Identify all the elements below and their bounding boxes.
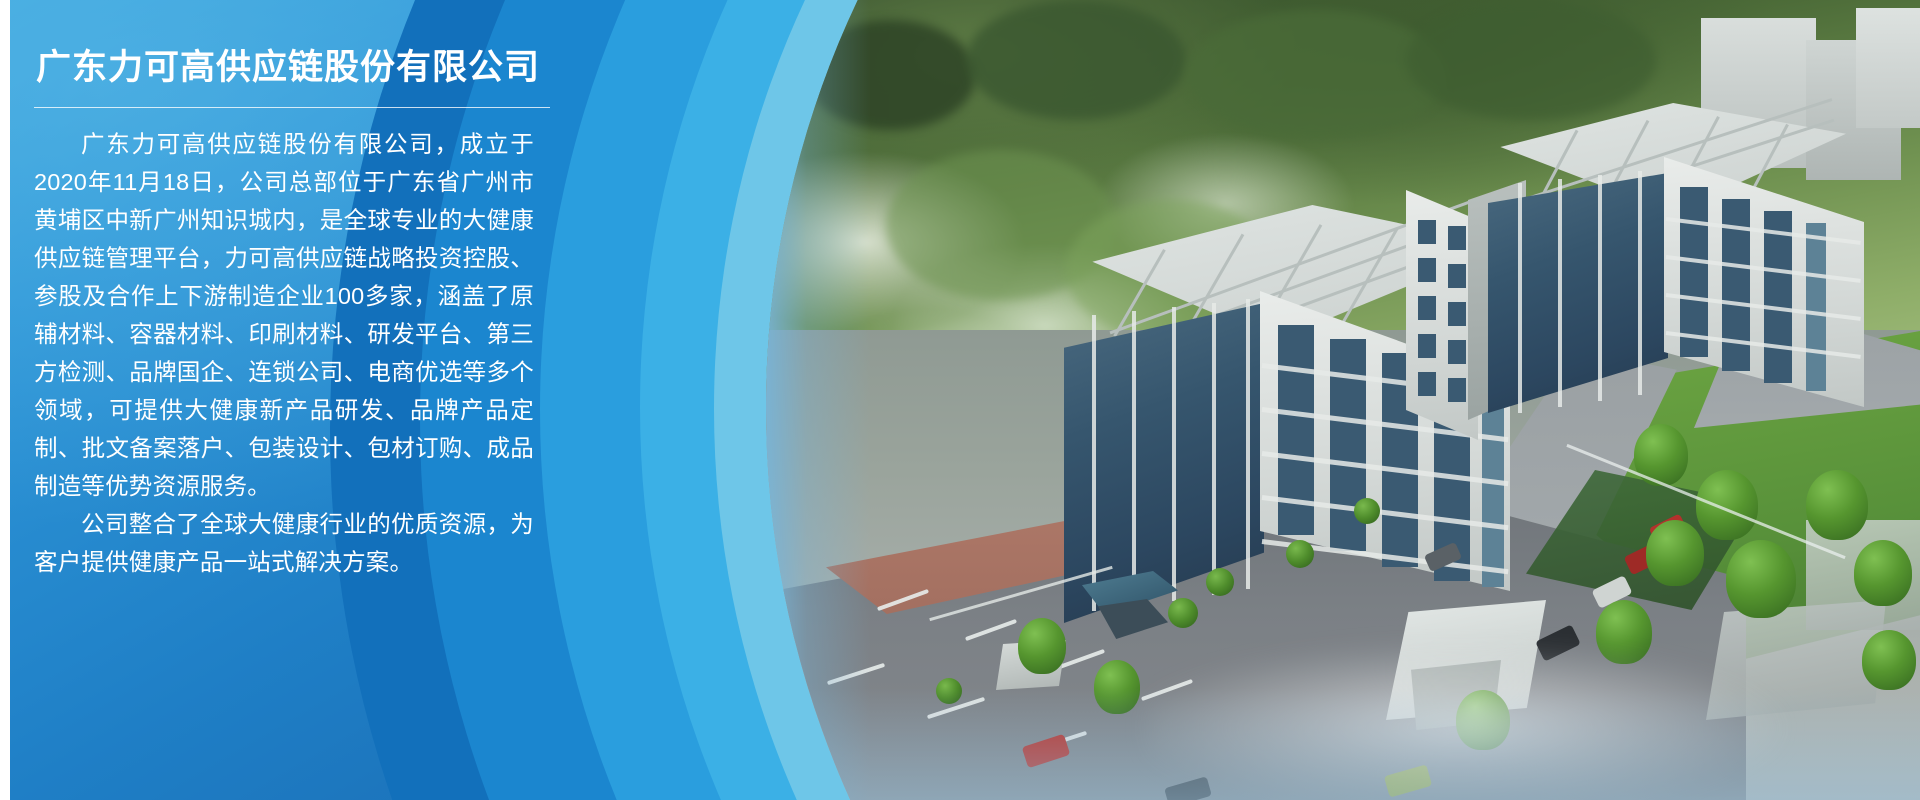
photo-circle-mask — [766, 0, 1920, 800]
shrub — [936, 678, 962, 704]
tower-window — [1418, 258, 1436, 282]
facade-mullion — [1132, 311, 1136, 607]
facility-aerial-photo — [766, 0, 1920, 800]
atmospheric-haze — [1146, 560, 1920, 800]
title-divider — [34, 107, 550, 108]
tree — [1094, 660, 1140, 714]
facade-mullion — [1172, 307, 1176, 601]
tower-window — [1448, 226, 1466, 250]
tower-window — [1418, 372, 1436, 396]
tower-window — [1448, 378, 1466, 402]
facade-mullion — [1558, 179, 1562, 407]
window-column — [1764, 211, 1792, 383]
tower-window — [1418, 296, 1436, 320]
page-title: 广东力可高供应链股份有限公司 — [36, 46, 530, 90]
window-column — [1680, 187, 1708, 357]
paragraph-2: 公司整合了全球大健康行业的优质资源，为客户提供健康产品一站式解决方案。 — [34, 505, 534, 581]
facade-mullion — [1212, 303, 1216, 595]
tower-window — [1448, 340, 1466, 364]
tree — [1806, 470, 1868, 540]
tower-window — [1448, 302, 1466, 326]
rear-factory-building — [1466, 95, 1886, 455]
facade-mullion — [1638, 171, 1642, 395]
facade-mullion — [1598, 175, 1602, 401]
paragraph-1: 广东力可高供应链股份有限公司，成立于2020年11月18日，公司总部位于广东省广… — [34, 125, 534, 505]
tree — [1018, 618, 1066, 674]
banner-stage: 广东力可高供应链股份有限公司 广东力可高供应链股份有限公司，成立于2020年11… — [0, 0, 1920, 800]
foliage-blob — [1186, 10, 1446, 140]
tower-window — [1448, 264, 1466, 288]
facade-mullion — [1092, 315, 1096, 611]
foliage-blob — [966, 0, 1186, 120]
company-intro-panel: 广东力可高供应链股份有限公司 广东力可高供应链股份有限公司，成立于2020年11… — [0, 0, 560, 800]
shrub — [1354, 498, 1380, 524]
foliage-blob — [806, 20, 976, 130]
tower-window — [1418, 220, 1436, 244]
facade-mullion — [1246, 299, 1250, 589]
tree — [1696, 470, 1758, 540]
facade-mullion — [1518, 183, 1522, 413]
window-column — [1806, 223, 1826, 391]
tower-window — [1418, 334, 1436, 358]
company-description: 广东力可高供应链股份有限公司，成立于2020年11月18日，公司总部位于广东省广… — [34, 125, 534, 581]
